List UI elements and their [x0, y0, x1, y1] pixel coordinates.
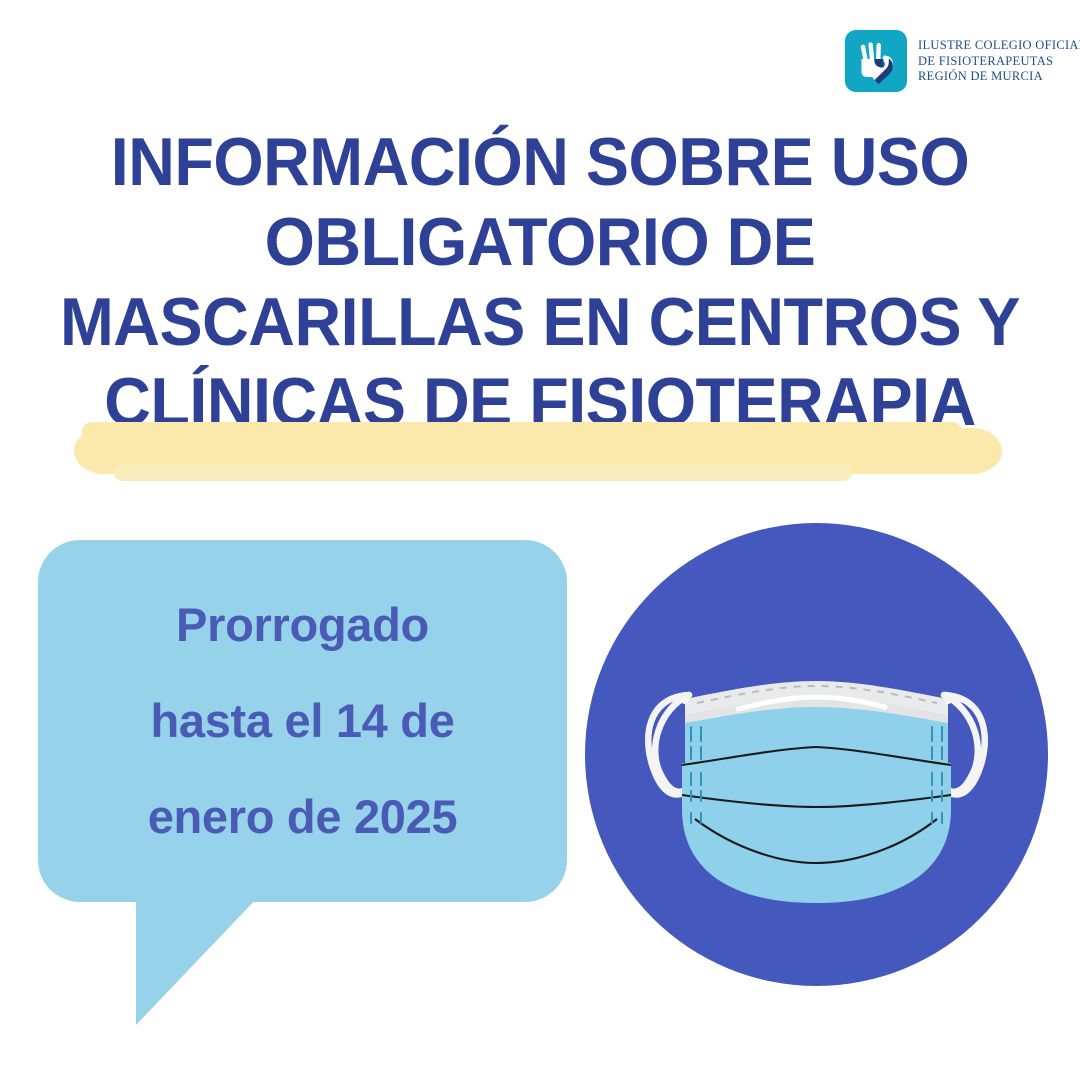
bubble-line-2: hasta el 14 de — [150, 673, 454, 769]
bubble-line-3: enero de 2025 — [148, 769, 458, 865]
page-title: INFORMACIÓN SOBRE USO OBLIGATORIO DE MAS… — [0, 122, 1080, 442]
title-highlight-band — [74, 428, 1002, 474]
title-line-3: MASCARILLAS EN CENTROS Y — [27, 282, 1053, 362]
hand-logo-icon — [845, 30, 907, 92]
title-line-2: OBLIGATORIO DE — [27, 202, 1053, 282]
surgical-mask-icon — [585, 523, 1048, 986]
speech-bubble-text: Prorrogado hasta el 14 de enero de 2025 — [38, 540, 567, 902]
poster-canvas: ILUSTRE COLEGIO OFICIAL DE FISIOTERAPEUT… — [0, 0, 1080, 1080]
speech-bubble: Prorrogado hasta el 14 de enero de 2025 — [38, 540, 567, 1025]
title-line-1: INFORMACIÓN SOBRE USO — [27, 122, 1053, 202]
brand-line-2: DE FISIOTERAPEUTAS — [918, 54, 1080, 70]
brand-lockup: ILUSTRE COLEGIO OFICIAL DE FISIOTERAPEUT… — [845, 30, 1080, 92]
brand-line-1: ILUSTRE COLEGIO OFICIAL — [918, 38, 1080, 54]
speech-bubble-tail — [136, 896, 259, 1025]
brand-text: ILUSTRE COLEGIO OFICIAL DE FISIOTERAPEUT… — [918, 30, 1080, 85]
bubble-line-1: Prorrogado — [176, 577, 429, 673]
brand-line-3: REGIÓN DE MURCIA — [918, 69, 1080, 85]
